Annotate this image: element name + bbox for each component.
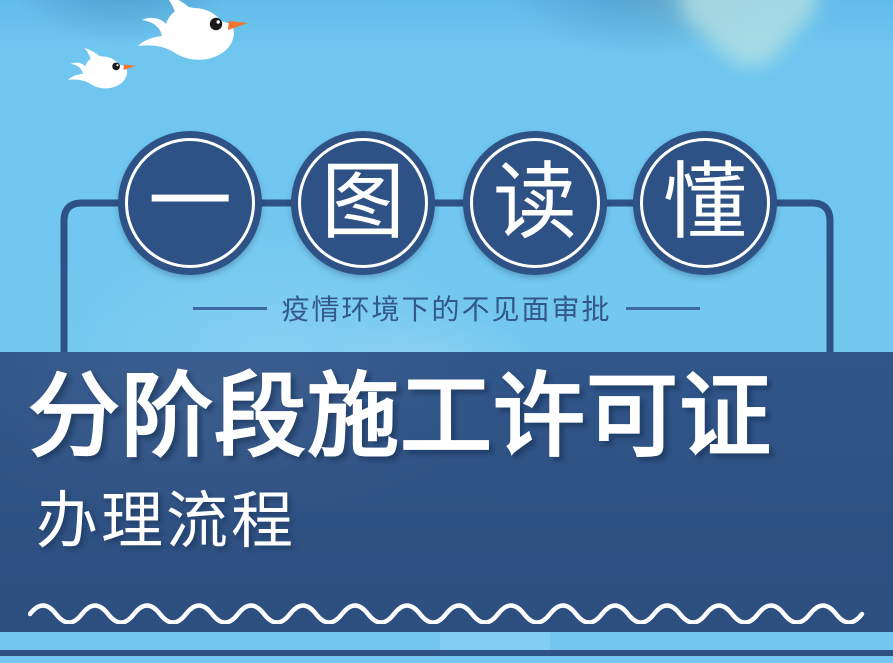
subtitle-rule-right xyxy=(626,307,700,310)
medallion-du-char: 读 xyxy=(463,131,607,275)
headline-primary: 分阶段施工许可证 xyxy=(28,370,772,464)
medallion-tu-char: 图 xyxy=(291,131,435,275)
headline-secondary: 办理流程 xyxy=(36,490,296,552)
medallion-tu: 图 xyxy=(291,131,435,275)
medallion-yi-char: 一 xyxy=(118,131,262,275)
subtitle-rule-left xyxy=(193,307,267,310)
subtitle-text: 疫情环境下的不见面审批 xyxy=(281,288,611,328)
headline-band: 分阶段施工许可证 办理流程 xyxy=(0,352,893,632)
medallion-du: 读 xyxy=(463,131,607,275)
bottom-stripe-light-lower xyxy=(0,656,893,663)
wave-divider-icon xyxy=(28,590,866,624)
poster-root: 一 图 读 懂 疫情环境下的不见面审批 分阶段施工许可证 办理流程 xyxy=(0,0,893,663)
medallion-yi: 一 xyxy=(118,131,262,275)
medallion-dong-char: 懂 xyxy=(633,131,777,275)
subtitle-row: 疫情环境下的不见面审批 xyxy=(0,288,893,328)
medallion-dong: 懂 xyxy=(633,131,777,275)
